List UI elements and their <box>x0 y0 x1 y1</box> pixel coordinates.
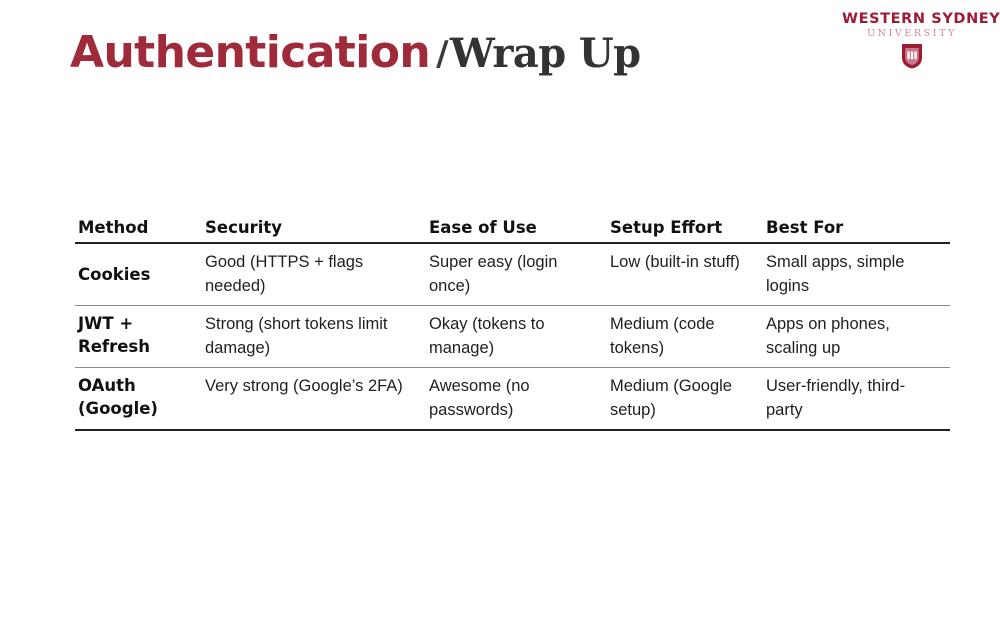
cell-ease-of-use: Awesome (no passwords) <box>426 368 607 431</box>
cell-method: Cookies <box>75 243 202 306</box>
cell-best-for: Apps on phones, scaling up <box>763 306 950 368</box>
cell-security: Strong (short tokens limit damage) <box>202 306 426 368</box>
cell-best-for: Small apps, simple logins <box>763 243 950 306</box>
column-header-setup-effort: Setup Effort <box>607 218 763 243</box>
cell-setup-effort: Low (built-in stuff) <box>607 243 763 306</box>
page-title-subject: Wrap Up <box>450 30 641 77</box>
table-row: JWT + Refresh Strong (short tokens limit… <box>75 306 950 368</box>
cell-best-for: User-friendly, third-party <box>763 368 950 431</box>
shield-crest-icon <box>901 43 923 69</box>
cell-ease-of-use: Okay (tokens to manage) <box>426 306 607 368</box>
university-logo: WESTERN SYDNEY UNIVERSITY <box>842 12 982 74</box>
cell-ease-of-use: Super easy (login once) <box>426 243 607 306</box>
table-row: Cookies Good (HTTPS + flags needed) Supe… <box>75 243 950 306</box>
page-title-separator: / <box>430 34 450 74</box>
cell-method: OAuth (Google) <box>75 368 202 431</box>
page-title-accent: Authentication <box>70 27 430 78</box>
cell-setup-effort: Medium (code tokens) <box>607 306 763 368</box>
cell-security: Good (HTTPS + flags needed) <box>202 243 426 306</box>
cell-security: Very strong (Google’s 2FA) <box>202 368 426 431</box>
logo-wordmark-primary: WESTERN SYDNEY <box>842 12 982 27</box>
table-row: OAuth (Google) Very strong (Google’s 2FA… <box>75 368 950 431</box>
auth-comparison-table: Method Security Ease of Use Setup Effort… <box>75 218 950 431</box>
logo-wordmark-secondary: UNIVERSITY <box>842 28 982 40</box>
page-title: Authentication/Wrap Up <box>70 26 641 81</box>
column-header-security: Security <box>202 218 426 243</box>
cell-method: JWT + Refresh <box>75 306 202 368</box>
column-header-best-for: Best For <box>763 218 950 243</box>
column-header-method: Method <box>75 218 202 243</box>
column-header-ease-of-use: Ease of Use <box>426 218 607 243</box>
cell-setup-effort: Medium (Google setup) <box>607 368 763 431</box>
table-header-row: Method Security Ease of Use Setup Effort… <box>75 218 950 243</box>
